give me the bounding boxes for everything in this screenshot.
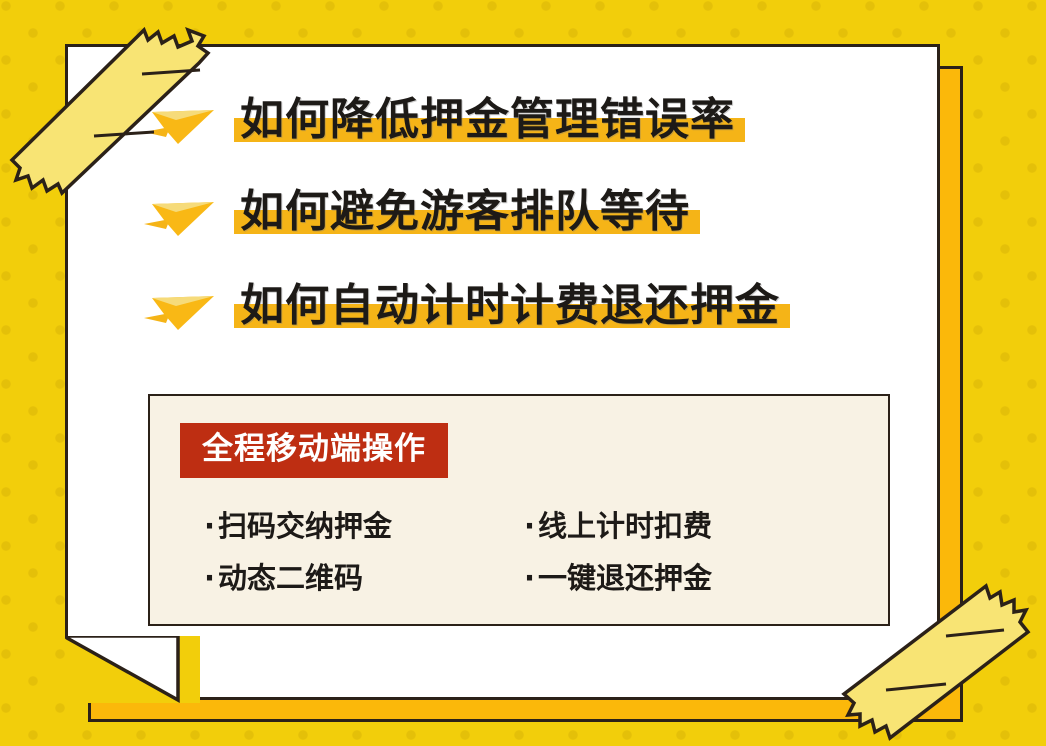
headline-highlight-1: 如何降低押金管理错误率 (234, 92, 741, 148)
bullet-dot: · (204, 561, 215, 595)
list-item: ·线上计时扣费 (524, 500, 844, 552)
bullet-dot: · (524, 509, 535, 543)
feature-list: ·扫码交纳押金 ·线上计时扣费 ·动态二维码 ·一键退还押金 (204, 500, 844, 604)
headline-highlight-2: 如何避免游客排队等待 (234, 184, 696, 240)
bullet-dot: · (524, 561, 535, 595)
list-item-label: 线上计时扣费 (538, 509, 712, 543)
tape-strip-top-left-icon (2, 8, 212, 203)
panel-badge: 全程移动端操作 (180, 423, 448, 478)
list-item-label: 扫码交纳押金 (218, 509, 392, 543)
list-item: ·扫码交纳押金 (204, 500, 524, 552)
headline-text-1: 如何降低押金管理错误率 (240, 94, 735, 145)
list-item-label: 一键退还押金 (538, 561, 712, 595)
feature-panel: 全程移动端操作 ·扫码交纳押金 ·线上计时扣费 ·动态二维码 ·一键退还押金 (148, 394, 890, 626)
list-item-label: 动态二维码 (218, 561, 363, 595)
bullet-dot: · (204, 509, 215, 543)
headline-row-3[interactable]: 如何自动计时计费退还押金 (140, 278, 786, 334)
poster-canvas: 如何降低押金管理错误率 如何避免游客排队等待 如何自动计时计费退还押 (0, 0, 1046, 746)
list-item: ·动态二维码 (204, 552, 524, 604)
headline-text-2: 如何避免游客排队等待 (240, 186, 690, 237)
arrow-right-icon (140, 286, 218, 332)
headline-row-1[interactable]: 如何降低押金管理错误率 (140, 92, 741, 148)
headline-highlight-3: 如何自动计时计费退还押金 (234, 278, 786, 334)
headline-text-3: 如何自动计时计费退还押金 (240, 280, 780, 331)
list-item: ·一键退还押金 (524, 552, 844, 604)
tape-strip-bottom-right-icon (828, 578, 1038, 746)
headline-row-2[interactable]: 如何避免游客排队等待 (140, 184, 696, 240)
